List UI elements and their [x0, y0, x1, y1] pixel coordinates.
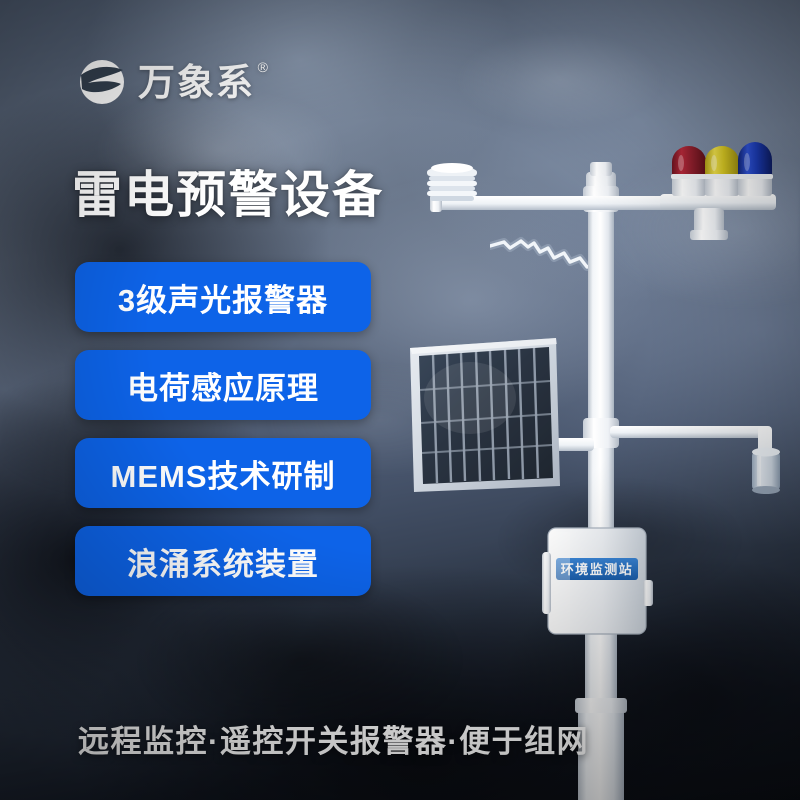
poster-canvas: 环境监测站 万象系® 雷电预警设备 3级声光报警器 电荷感应原理 MEMS技术研…	[0, 0, 800, 800]
vignette-overlay	[0, 0, 800, 800]
